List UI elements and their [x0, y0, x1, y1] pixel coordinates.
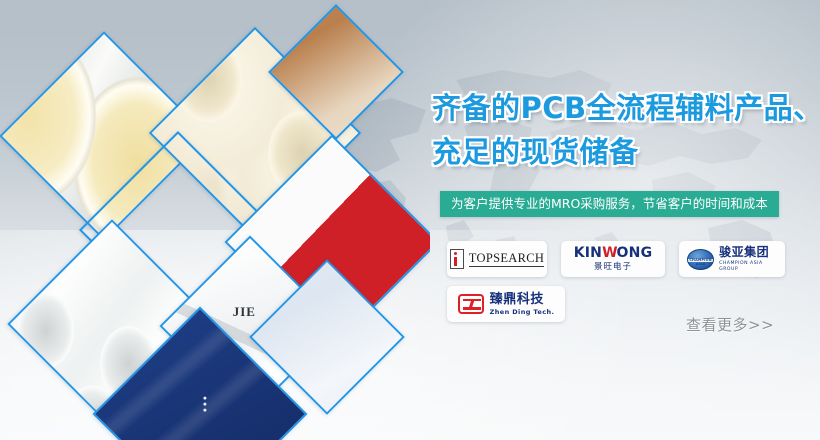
zhen-ding-square-icon: [458, 294, 484, 314]
zhen-ding-name-cn: 臻鼎科技: [490, 293, 555, 307]
topsearch-book-icon: [450, 249, 464, 269]
topsearch-wordmark: TOPSEARCH: [469, 252, 544, 267]
partner-logo-kinwong[interactable]: KINWONG 景旺电子: [561, 241, 665, 277]
release-liner-print: JIE: [233, 304, 256, 320]
champion-asia-globe-icon: CHAMPION ASIA: [687, 249, 714, 270]
partner-logo-zhen-ding[interactable]: 臻鼎科技 Zhen Ding Tech.: [447, 286, 565, 322]
kinwong-wordmark-cn: 景旺电子: [594, 263, 632, 272]
kinwong-wordmark-accent: W: [602, 245, 616, 261]
partner-logo-topsearch[interactable]: TOPSEARCH: [447, 241, 547, 277]
topsearch-lockup: TOPSEARCH: [450, 249, 544, 269]
zhen-ding-name-en: Zhen Ding Tech.: [490, 309, 555, 316]
zhen-ding-text: 臻鼎科技 Zhen Ding Tech.: [490, 293, 555, 316]
partner-logo-champion-asia[interactable]: CHAMPION ASIA 骏亚集团 CHAMPION ASIA GROUP: [679, 241, 785, 277]
champion-asia-globe-label: CHAMPION ASIA: [688, 258, 713, 266]
champion-asia-name-en: CHAMPION ASIA GROUP: [719, 261, 777, 273]
banner-subtitle: 为客户提供专业的MRO采购服务，节省客户的时间和成本: [440, 191, 779, 217]
zhen-ding-lockup: 臻鼎科技 Zhen Ding Tech.: [458, 293, 555, 316]
champion-asia-name-cn: 骏亚集团: [719, 246, 777, 259]
partner-logo-row-1: TOPSEARCH KINWONG 景旺电子 CHAMPION ASIA 骏亚集…: [447, 241, 787, 277]
banner-headline: 齐备的PCB全流程辅料产品、 充足的现货储备: [432, 86, 812, 174]
promo-banner: JIE 齐备的PCB全流程辅料产品、 充足的现货储备 为客户提供专业的MRO采购…: [0, 0, 820, 440]
headline-line-2: 充足的现货储备: [432, 130, 812, 174]
kinwong-wordmark: KINWONG: [574, 246, 653, 261]
champion-asia-text: 骏亚集团 CHAMPION ASIA GROUP: [719, 246, 777, 273]
kinwong-wordmark-prefix: KIN: [574, 245, 602, 261]
view-more-link[interactable]: 查看更多>>: [686, 314, 774, 335]
navy-sheet-dots-icon: [196, 394, 206, 415]
headline-line-1: 齐备的PCB全流程辅料产品、: [432, 91, 820, 125]
kinwong-wordmark-suffix: ONG: [617, 245, 653, 261]
product-collage: JIE: [0, 0, 430, 440]
champion-asia-lockup: CHAMPION ASIA 骏亚集团 CHAMPION ASIA GROUP: [687, 246, 777, 273]
